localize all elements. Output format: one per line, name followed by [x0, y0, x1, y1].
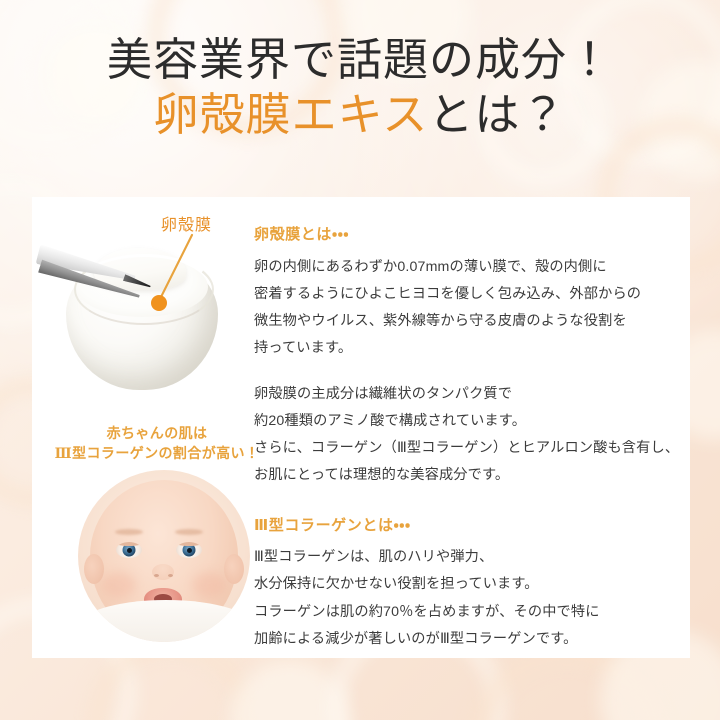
page-root: 美容業界で話題の成分！ 卵殻膜エキスとは？ 卵殻膜 — [0, 0, 720, 720]
text-line: 約20種類のアミノ酸で構成されています。 — [254, 408, 678, 435]
text-line: 微生物やウイルス、紫外線等から守る皮膚のような役割を — [254, 308, 678, 335]
callout-label-eggshell-membrane: 卵殻膜 — [161, 211, 212, 235]
text-line: 加齢による減少が著しいのがⅢ型コラーゲンです。 — [254, 626, 678, 653]
text-line: 持っています。 — [254, 335, 678, 362]
baby-photo-caption: 赤ちゃんの肌は Ⅲ型コラーゲンの割合が高い！ — [32, 425, 282, 465]
baby-bib — [78, 600, 250, 642]
tweezers-icon — [38, 244, 150, 292]
baby-cheek-right — [192, 572, 226, 598]
baby-eyebrow-left — [115, 529, 143, 535]
tweezers-tip — [123, 274, 152, 290]
baby-nostril-right — [168, 574, 173, 577]
baby-eyelid-left — [116, 542, 142, 546]
page-title-suffix: とは？ — [428, 90, 566, 140]
section-type-iii-collagen: Ⅲ型コラーゲンとは・・・ Ⅲ型コラーゲンは、肌のハリや弾力、 水分保持に欠かせな… — [254, 516, 678, 654]
figure-column: 卵殻膜 赤ちゃんの肌は Ⅲ型コラーゲンの割合が高い！ — [32, 197, 282, 658]
baby-pupil-right — [187, 548, 192, 553]
baby-pupil-left — [127, 548, 132, 553]
baby-eyelid-right — [176, 542, 202, 546]
text-line: さらに、コラーゲン（Ⅲ型コラーゲン）とヒアルロン酸も含有し、 — [254, 435, 678, 462]
section-paragraph: 卵の内側にあるわずか0.07mmの薄い膜で、殻の内側に 密着するようにひよこヒヨ… — [254, 254, 678, 363]
text-line: 卵殻膜の主成分は繊維状のタンパク質で — [254, 381, 678, 408]
bokeh-circle — [230, 660, 350, 720]
paragraph-spacer — [254, 363, 678, 381]
page-title-accent: 卵殻膜エキス — [154, 90, 429, 140]
section-heading: 卵殻膜とは・・・ — [254, 225, 678, 245]
page-header: 美容業界で話題の成分！ 卵殻膜エキスとは？ — [0, 34, 720, 142]
baby-ear-right — [224, 554, 244, 584]
baby-eye-left — [116, 542, 142, 558]
content-panel: 卵殻膜 赤ちゃんの肌は Ⅲ型コラーゲンの割合が高い！ — [32, 197, 690, 658]
baby-portrait-photo — [78, 470, 250, 642]
section-eggshell-membrane: 卵殻膜とは・・・ 卵の内側にあるわずか0.07mmの薄い膜で、殻の内側に 密着す… — [254, 225, 678, 490]
bokeh-circle — [470, 650, 664, 720]
text-line: 水分保持に欠かせない役割を担っています。 — [254, 571, 678, 598]
baby-ear-left — [84, 554, 104, 584]
text-line: Ⅲ型コラーゲンは、肌のハリや弾力、 — [254, 544, 678, 571]
section-heading: Ⅲ型コラーゲンとは・・・ — [254, 516, 678, 536]
page-title-line-2: 卵殻膜エキスとは？ — [0, 89, 720, 142]
baby-eyebrow-right — [175, 529, 203, 535]
baby-caption-line-2: Ⅲ型コラーゲンの割合が高い！ — [32, 445, 282, 465]
section-paragraph: Ⅲ型コラーゲンは、肌のハリや弾力、 水分保持に欠かせない役割を担っています。 コ… — [254, 544, 678, 653]
page-title-line-1: 美容業界で話題の成分！ — [0, 34, 720, 87]
baby-head — [90, 480, 238, 638]
text-line: お肌にとっては理想的な美容成分です。 — [254, 462, 678, 489]
text-line: 密着するようにひよこヒヨコを優しく包み込み、外部からの — [254, 281, 678, 308]
baby-nostril-left — [154, 574, 159, 577]
section-paragraph: 卵殻膜の主成分は繊維状のタンパク質で 約20種類のアミノ酸で構成されています。 … — [254, 381, 678, 490]
baby-nose — [152, 564, 174, 580]
text-column: 卵殻膜とは・・・ 卵の内側にあるわずか0.07mmの薄い膜で、殻の内側に 密着す… — [254, 225, 678, 653]
baby-cheek-left — [102, 572, 136, 598]
eggshell-membrane-photo — [38, 230, 236, 390]
text-line: コラーゲンは肌の約70％を占めますが、その中で特に — [254, 599, 678, 626]
baby-caption-line-1: 赤ちゃんの肌は — [32, 425, 282, 445]
section-spacer — [254, 490, 678, 516]
baby-eye-right — [176, 542, 202, 558]
text-line: 卵の内側にあるわずか0.07mmの薄い膜で、殻の内側に — [254, 254, 678, 281]
